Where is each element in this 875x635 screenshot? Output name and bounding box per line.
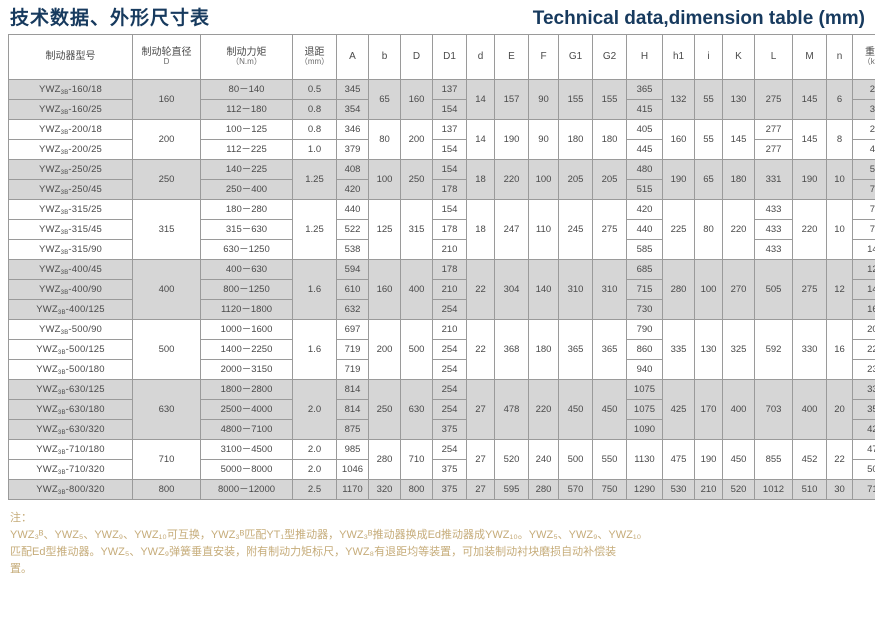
cell-d: 18 [467, 200, 495, 260]
cell-torque: 630－1250 [201, 240, 293, 260]
cell-D1: 254 [433, 440, 467, 460]
cell-wt: 167 [853, 300, 875, 320]
cell-ret: 1.25 [293, 160, 337, 200]
table-row: YWZ3B-315/25315180－2801.2544012531515418… [9, 200, 875, 220]
cell-G2: 275 [593, 200, 627, 260]
cell-M: 145 [793, 80, 827, 120]
cell-model: YWZ3B-630/125 [9, 380, 133, 400]
cell-d: 14 [467, 80, 495, 120]
page-title-cn: 技术数据、外形尺寸表 [10, 9, 210, 28]
cell-E: 520 [495, 440, 529, 480]
col-header-F: F [529, 35, 559, 80]
cell-wt: 425 [853, 420, 875, 440]
model-subscript: 3B [61, 110, 69, 116]
model-subscript: 3B [61, 290, 69, 296]
col-header-L: L [755, 35, 793, 80]
cell-K: 220 [723, 200, 755, 260]
cell-F: 90 [529, 120, 559, 160]
col-header-sub: （mm） [293, 58, 336, 66]
cell-torque: 315－630 [201, 220, 293, 240]
cell-A: 610 [337, 280, 369, 300]
cell-model: YWZ3B-200/18 [9, 120, 133, 140]
cell-D1: 375 [433, 480, 467, 500]
cell-b: 320 [369, 480, 401, 500]
cell-dia: 800 [133, 480, 201, 500]
cell-E: 190 [495, 120, 529, 160]
cell-b: 280 [369, 440, 401, 480]
cell-A: 354 [337, 100, 369, 120]
table-row: YWZ3B-800/3208008000－120002.511703208003… [9, 480, 875, 500]
table-row: YWZ3B-630/1256301800－28002.0814250630254… [9, 380, 875, 400]
cell-H: 420 [627, 200, 663, 220]
cell-H: 1075 [627, 380, 663, 400]
note-line: YWZ₃ᴮ、YWZ₅、YWZ₉、YWZ₁₀可互换，YWZ₃ᴮ匹配YT₁型推动器，… [10, 527, 865, 544]
model-subscript: 3B [61, 270, 69, 276]
cell-model: YWZ3B-160/25 [9, 100, 133, 120]
cell-L: 433 [755, 200, 793, 220]
cell-H: 860 [627, 340, 663, 360]
cell-ret: 2.5 [293, 480, 337, 500]
cell-L: 331 [755, 160, 793, 200]
col-header-A: A [337, 35, 369, 80]
cell-A: 345 [337, 80, 369, 100]
cell-dia: 250 [133, 160, 201, 200]
cell-wt: 43 [853, 140, 875, 160]
cell-D: 400 [401, 260, 433, 320]
cell-A: 632 [337, 300, 369, 320]
cell-torque: 4800－7100 [201, 420, 293, 440]
cell-model: YWZ3B-400/45 [9, 260, 133, 280]
cell-torque: 5000－8000 [201, 460, 293, 480]
cell-L: 275 [755, 80, 793, 120]
cell-D1: 254 [433, 340, 467, 360]
cell-dia: 400 [133, 260, 201, 320]
cell-G1: 365 [559, 320, 593, 380]
cell-G1: 450 [559, 380, 593, 440]
cell-E: 220 [495, 160, 529, 200]
cell-D: 315 [401, 200, 433, 260]
cell-i: 55 [695, 120, 723, 160]
cell-torque: 112－180 [201, 100, 293, 120]
cell-H: 480 [627, 160, 663, 180]
cell-H: 405 [627, 120, 663, 140]
cell-b: 250 [369, 380, 401, 440]
cell-torque: 2500－4000 [201, 400, 293, 420]
note-line: 匹配Ed型推动器。YWZ₅、YWZ₉弹簧垂直安装，附有制动力矩标尺，YWZ₈有退… [10, 544, 865, 561]
cell-G2: 450 [593, 380, 627, 440]
cell-D1: 178 [433, 220, 467, 240]
spec-sheet-page: 技术数据、外形尺寸表 Technical data,dimension tabl… [0, 0, 875, 635]
cell-H: 1290 [627, 480, 663, 500]
model-subscript: 3B [58, 370, 66, 376]
cell-i: 170 [695, 380, 723, 440]
cell-H: 940 [627, 360, 663, 380]
cell-torque: 400－630 [201, 260, 293, 280]
cell-A: 346 [337, 120, 369, 140]
cell-L: 855 [755, 440, 793, 480]
cell-D1: 154 [433, 200, 467, 220]
cell-torque: 112－225 [201, 140, 293, 160]
cell-A: 420 [337, 180, 369, 200]
cell-A: 408 [337, 160, 369, 180]
cell-model: YWZ3B-710/320 [9, 460, 133, 480]
cell-H: 790 [627, 320, 663, 340]
cell-n: 6 [827, 80, 853, 120]
table-header-row: 制动器型号制动轮直径D制动力矩（N.m）退距（mm）AbDD1dEFG1G2Hh… [9, 35, 875, 80]
cell-K: 520 [723, 480, 755, 500]
cell-n: 10 [827, 160, 853, 200]
cell-H: 1130 [627, 440, 663, 480]
cell-n: 20 [827, 380, 853, 440]
cell-A: 379 [337, 140, 369, 160]
cell-F: 240 [529, 440, 559, 480]
cell-K: 180 [723, 160, 755, 200]
cell-ret: 2.0 [293, 380, 337, 440]
cell-d: 22 [467, 320, 495, 380]
cell-F: 180 [529, 320, 559, 380]
cell-i: 210 [695, 480, 723, 500]
cell-d: 22 [467, 260, 495, 320]
cell-A: 875 [337, 420, 369, 440]
cell-wt: 335 [853, 380, 875, 400]
cell-b: 160 [369, 260, 401, 320]
cell-dia: 630 [133, 380, 201, 440]
cell-torque: 3100－4500 [201, 440, 293, 460]
cell-model: YWZ3B-315/90 [9, 240, 133, 260]
cell-torque: 8000－12000 [201, 480, 293, 500]
cell-G2: 155 [593, 80, 627, 120]
col-header-d: d [467, 35, 495, 80]
cell-ret: 1.6 [293, 320, 337, 380]
cell-D1: 375 [433, 420, 467, 440]
footer-note: 注： YWZ₃ᴮ、YWZ₅、YWZ₉、YWZ₁₀可互换，YWZ₃ᴮ匹配YT₁型推… [0, 500, 875, 578]
cell-ret: 0.5 [293, 80, 337, 100]
cell-torque: 800－1250 [201, 280, 293, 300]
cell-wt: 140 [853, 280, 875, 300]
cell-H: 445 [627, 140, 663, 160]
cell-H: 1090 [627, 420, 663, 440]
cell-model: YWZ3B-500/180 [9, 360, 133, 380]
cell-A: 594 [337, 260, 369, 280]
model-subscript: 3B [61, 210, 69, 216]
col-header-sub: （kg） [853, 58, 875, 66]
cell-h1: 225 [663, 200, 695, 260]
cell-model: YWZ3B-315/25 [9, 200, 133, 220]
cell-H: 440 [627, 220, 663, 240]
cell-D1: 254 [433, 300, 467, 320]
cell-n: 16 [827, 320, 853, 380]
cell-H: 415 [627, 100, 663, 120]
cell-D1: 154 [433, 100, 467, 120]
cell-wt: 220 [853, 340, 875, 360]
cell-K: 270 [723, 260, 755, 320]
cell-dia: 160 [133, 80, 201, 120]
cell-G1: 310 [559, 260, 593, 320]
cell-model: YWZ3B-400/125 [9, 300, 133, 320]
cell-A: 719 [337, 340, 369, 360]
cell-wt: 202 [853, 320, 875, 340]
cell-E: 157 [495, 80, 529, 120]
cell-M: 510 [793, 480, 827, 500]
cell-d: 14 [467, 120, 495, 160]
model-subscript: 3B [61, 170, 69, 176]
model-subscript: 3B [61, 250, 69, 256]
cell-K: 130 [723, 80, 755, 120]
cell-torque: 140－225 [201, 160, 293, 180]
cell-D: 800 [401, 480, 433, 500]
col-header-sub: （N.m） [201, 58, 292, 66]
cell-dia: 710 [133, 440, 201, 480]
cell-model: YWZ3B-315/45 [9, 220, 133, 240]
cell-L: 592 [755, 320, 793, 380]
cell-d: 27 [467, 440, 495, 480]
cell-E: 304 [495, 260, 529, 320]
cell-i: 65 [695, 160, 723, 200]
cell-d: 27 [467, 480, 495, 500]
col-header-model: 制动器型号 [9, 35, 133, 80]
cell-F: 140 [529, 260, 559, 320]
cell-F: 280 [529, 480, 559, 500]
cell-G2: 365 [593, 320, 627, 380]
cell-D1: 154 [433, 140, 467, 160]
cell-model: YWZ3B-200/25 [9, 140, 133, 160]
cell-M: 400 [793, 380, 827, 440]
col-header-n: n [827, 35, 853, 80]
cell-wt: 237 [853, 360, 875, 380]
col-header-i: i [695, 35, 723, 80]
cell-G2: 550 [593, 440, 627, 480]
cell-n: 8 [827, 120, 853, 160]
cell-F: 100 [529, 160, 559, 200]
cell-wt: 716 [853, 480, 875, 500]
cell-i: 55 [695, 80, 723, 120]
model-subscript: 3B [61, 150, 69, 156]
cell-L: 433 [755, 240, 793, 260]
table-row: YWZ3B-500/905001000－16001.66972005002102… [9, 320, 875, 340]
cell-i: 80 [695, 200, 723, 260]
cell-wt: 147 [853, 240, 875, 260]
cell-L: 277 [755, 140, 793, 160]
cell-model: YWZ3B-710/180 [9, 440, 133, 460]
cell-D1: 210 [433, 320, 467, 340]
cell-b: 100 [369, 160, 401, 200]
col-header-D: D [401, 35, 433, 80]
cell-i: 190 [695, 440, 723, 480]
page-header: 技术数据、外形尺寸表 Technical data,dimension tabl… [0, 0, 875, 34]
cell-D1: 375 [433, 460, 467, 480]
cell-wt: 37 [853, 100, 875, 120]
cell-L: 703 [755, 380, 793, 440]
table-body: YWZ3B-160/1816080－1400.53456516013714157… [9, 80, 875, 500]
cell-model: YWZ3B-500/125 [9, 340, 133, 360]
col-header-H: H [627, 35, 663, 80]
cell-G1: 500 [559, 440, 593, 480]
model-subscript: 3B [61, 230, 69, 236]
cell-wt: 358 [853, 400, 875, 420]
cell-wt: 78 [853, 220, 875, 240]
cell-E: 247 [495, 200, 529, 260]
model-subscript: 3B [58, 310, 66, 316]
cell-K: 400 [723, 380, 755, 440]
cell-M: 220 [793, 200, 827, 260]
cell-D1: 137 [433, 80, 467, 100]
cell-L: 505 [755, 260, 793, 320]
cell-dia: 315 [133, 200, 201, 260]
cell-torque: 1000－1600 [201, 320, 293, 340]
cell-M: 190 [793, 160, 827, 200]
model-subscript: 3B [58, 390, 66, 396]
cell-M: 330 [793, 320, 827, 380]
model-subscript: 3B [61, 190, 69, 196]
cell-h1: 160 [663, 120, 695, 160]
cell-A: 985 [337, 440, 369, 460]
cell-G1: 245 [559, 200, 593, 260]
spec-table-wrap: 制动器型号制动轮直径D制动力矩（N.m）退距（mm）AbDD1dEFG1G2Hh… [0, 34, 875, 500]
cell-ret: 2.0 [293, 460, 337, 480]
col-header-ret: 退距（mm） [293, 35, 337, 80]
cell-G1: 570 [559, 480, 593, 500]
model-subscript: 3B [58, 410, 66, 416]
table-row: YWZ3B-250/25250140－2251.2540810025015418… [9, 160, 875, 180]
model-subscript: 3B [61, 90, 69, 96]
cell-M: 452 [793, 440, 827, 480]
cell-A: 522 [337, 220, 369, 240]
cell-F: 220 [529, 380, 559, 440]
cell-F: 90 [529, 80, 559, 120]
cell-model: YWZ3B-800/320 [9, 480, 133, 500]
model-subscript: 3B [61, 330, 69, 336]
cell-A: 538 [337, 240, 369, 260]
cell-model: YWZ3B-630/320 [9, 420, 133, 440]
cell-G2: 180 [593, 120, 627, 160]
cell-E: 595 [495, 480, 529, 500]
cell-E: 368 [495, 320, 529, 380]
cell-H: 365 [627, 80, 663, 100]
col-header-K: K [723, 35, 755, 80]
cell-torque: 80－140 [201, 80, 293, 100]
cell-model: YWZ3B-250/45 [9, 180, 133, 200]
cell-H: 685 [627, 260, 663, 280]
col-header-G2: G2 [593, 35, 627, 80]
cell-K: 450 [723, 440, 755, 480]
cell-h1: 280 [663, 260, 695, 320]
col-header-torque: 制动力矩（N.m） [201, 35, 293, 80]
cell-b: 200 [369, 320, 401, 380]
cell-i: 130 [695, 320, 723, 380]
cell-ret: 2.0 [293, 440, 337, 460]
cell-torque: 1400－2250 [201, 340, 293, 360]
cell-model: YWZ3B-400/90 [9, 280, 133, 300]
table-header: 制动器型号制动轮直径D制动力矩（N.m）退距（mm）AbDD1dEFG1G2Hh… [9, 35, 875, 80]
cell-model: YWZ3B-250/25 [9, 160, 133, 180]
model-subscript: 3B [58, 430, 66, 436]
cell-D: 200 [401, 120, 433, 160]
cell-A: 814 [337, 380, 369, 400]
cell-D1: 178 [433, 180, 467, 200]
note-line: 置。 [10, 561, 865, 578]
cell-model: YWZ3B-500/90 [9, 320, 133, 340]
cell-A: 697 [337, 320, 369, 340]
cell-torque: 1120－1800 [201, 300, 293, 320]
col-header-b: b [369, 35, 401, 80]
cell-ret: 1.6 [293, 260, 337, 320]
col-header-h1: h1 [663, 35, 695, 80]
cell-D1: 210 [433, 240, 467, 260]
cell-i: 100 [695, 260, 723, 320]
cell-H: 1075 [627, 400, 663, 420]
cell-G1: 155 [559, 80, 593, 120]
cell-D: 160 [401, 80, 433, 120]
col-header-G1: G1 [559, 35, 593, 80]
cell-D: 710 [401, 440, 433, 480]
cell-wt: 506 [853, 460, 875, 480]
page-title-en: Technical data,dimension table (mm) [533, 9, 865, 28]
cell-n: 22 [827, 440, 853, 480]
model-subscript: 3B [58, 350, 66, 356]
cell-h1: 425 [663, 380, 695, 440]
cell-G2: 205 [593, 160, 627, 200]
cell-b: 80 [369, 120, 401, 160]
cell-D1: 254 [433, 360, 467, 380]
col-header-wt: 重量（kg） [853, 35, 875, 80]
cell-H: 515 [627, 180, 663, 200]
model-subscript: 3B [61, 130, 69, 136]
cell-G2: 310 [593, 260, 627, 320]
cell-ret: 1.0 [293, 140, 337, 160]
cell-wt: 25 [853, 80, 875, 100]
cell-D: 250 [401, 160, 433, 200]
cell-F: 110 [529, 200, 559, 260]
cell-K: 325 [723, 320, 755, 380]
col-header-dia: 制动轮直径D [133, 35, 201, 80]
cell-h1: 530 [663, 480, 695, 500]
cell-torque: 2000－3150 [201, 360, 293, 380]
cell-L: 277 [755, 120, 793, 140]
cell-model: YWZ3B-630/180 [9, 400, 133, 420]
cell-H: 730 [627, 300, 663, 320]
technical-data-table: 制动器型号制动轮直径D制动力矩（N.m）退距（mm）AbDD1dEFG1G2Hh… [8, 34, 875, 500]
cell-h1: 132 [663, 80, 695, 120]
cell-G1: 205 [559, 160, 593, 200]
cell-n: 30 [827, 480, 853, 500]
cell-d: 27 [467, 380, 495, 440]
cell-wt: 74 [853, 200, 875, 220]
cell-D1: 254 [433, 400, 467, 420]
cell-G1: 180 [559, 120, 593, 160]
cell-wt: 70 [853, 180, 875, 200]
cell-wt: 125 [853, 260, 875, 280]
cell-torque: 100－125 [201, 120, 293, 140]
cell-A: 1046 [337, 460, 369, 480]
cell-G2: 750 [593, 480, 627, 500]
cell-wt: 475 [853, 440, 875, 460]
table-row: YWZ3B-160/1816080－1400.53456516013714157… [9, 80, 875, 100]
cell-H: 585 [627, 240, 663, 260]
cell-H: 715 [627, 280, 663, 300]
table-row: YWZ3B-400/45400400－6301.6594160400178223… [9, 260, 875, 280]
cell-wt: 58 [853, 160, 875, 180]
cell-h1: 190 [663, 160, 695, 200]
model-subscript: 3B [58, 470, 66, 476]
col-header-sub: D [133, 58, 200, 66]
cell-A: 719 [337, 360, 369, 380]
cell-ret: 0.8 [293, 120, 337, 140]
cell-torque: 180－280 [201, 200, 293, 220]
note-label: 注： [10, 510, 865, 527]
cell-d: 18 [467, 160, 495, 200]
cell-M: 145 [793, 120, 827, 160]
cell-D1: 154 [433, 160, 467, 180]
